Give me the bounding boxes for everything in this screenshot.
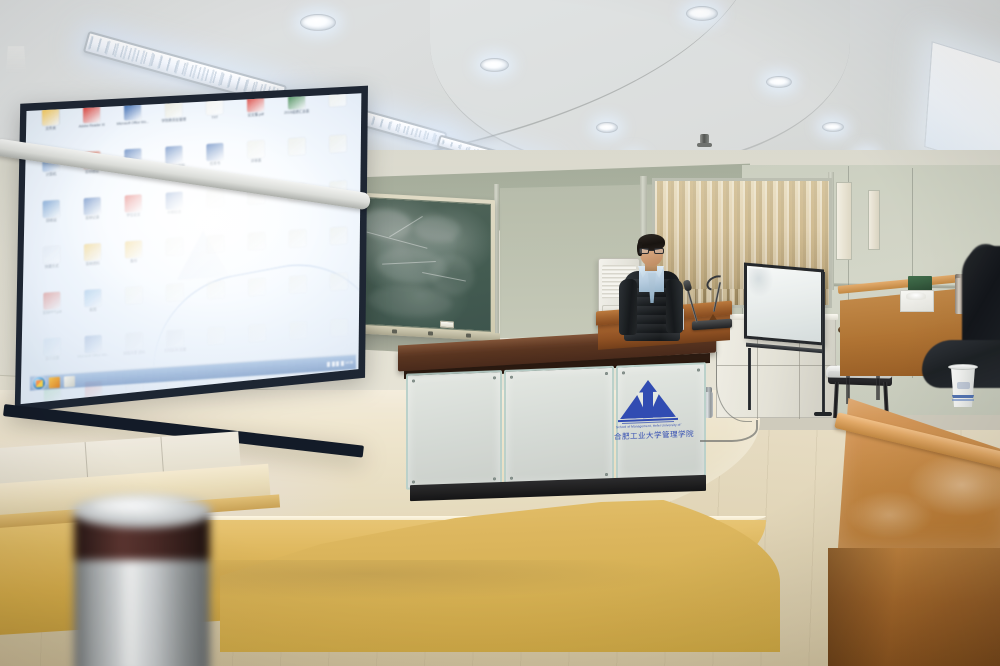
media-player-icon[interactable] <box>49 376 60 388</box>
generic-file-icon[interactable] <box>249 324 266 342</box>
desktop-icon-label: Microsoft Office Wo... <box>73 352 114 359</box>
desktop-icon-label: 任务书 <box>194 160 235 167</box>
desktop-icon-label <box>317 106 358 109</box>
generic-file-icon[interactable] <box>208 327 225 345</box>
desktop-icon-label <box>196 344 237 347</box>
desktop-icon-label <box>236 249 277 252</box>
downlight-icon-3 <box>596 122 618 133</box>
desktop-icon-label <box>154 301 195 304</box>
generic-file-icon[interactable] <box>166 284 183 302</box>
stage-shadow <box>180 560 800 630</box>
desktop-icon[interactable]: 答辩记录 <box>72 194 113 243</box>
whiteboard-on-stand[interactable] <box>744 266 830 418</box>
cup-blue-stripe <box>951 395 975 398</box>
chalkboard-eraser[interactable] <box>440 321 454 329</box>
generic-file-icon[interactable] <box>166 238 183 256</box>
desktop-icon-label: 学位论文 <box>113 212 154 219</box>
generic-file-icon[interactable] <box>331 319 348 337</box>
shortcut-icon[interactable] <box>167 330 184 348</box>
generic-file-icon[interactable] <box>288 137 305 155</box>
desktop-icon-label: 回收站 <box>31 217 72 224</box>
desktop-icon-label <box>319 382 360 385</box>
judges-table-front-shadow <box>828 548 1000 666</box>
desktop-icon-label: Adobe Reader XI <box>71 122 112 129</box>
word-file-icon[interactable] <box>165 146 182 164</box>
projected-desktop[interactable]: 文件夹Adobe Reader XIMicrosoft Office Wo...… <box>26 82 358 394</box>
desktop-icon-label: 答辩记录 <box>72 214 113 221</box>
desktop-icon[interactable] <box>318 224 359 273</box>
word-file-icon[interactable] <box>166 192 183 210</box>
desktop-icon[interactable]: 截图 <box>72 286 113 335</box>
whiteboard-surface[interactable] <box>744 263 824 346</box>
generic-file-icon[interactable] <box>207 281 224 299</box>
tray-icon-2[interactable] <box>331 361 334 366</box>
judges-table[interactable] <box>838 372 1000 666</box>
desktop-icon[interactable] <box>154 281 195 330</box>
desktop-icon-label: 论文集.pdf <box>235 111 276 118</box>
desktop-icon[interactable]: 答辩资料 <box>72 240 113 289</box>
generic-file-icon[interactable] <box>125 286 142 304</box>
downlight-icon-6 <box>822 122 844 132</box>
tray-icon-4[interactable] <box>340 360 343 365</box>
desktop-icon-label <box>195 206 236 209</box>
folder-icon[interactable] <box>84 243 101 261</box>
folder-icon[interactable] <box>125 240 142 258</box>
desktop-icon-label: 截图 <box>72 306 113 313</box>
word-file-icon[interactable] <box>206 143 223 161</box>
desktop-icon[interactable]: 答辩PPT.pdf <box>31 289 72 338</box>
desktop-icon[interactable]: Microsoft Office Wo... <box>112 100 153 149</box>
generic-file-icon[interactable] <box>247 140 264 158</box>
desktop-icon-label <box>276 155 317 158</box>
desktop-icon-label: 中期检查 <box>154 209 195 216</box>
explorer-icon[interactable] <box>64 375 75 387</box>
sprinkler-head-icon <box>700 134 709 147</box>
start-orb-icon[interactable] <box>33 377 45 390</box>
word-file-icon[interactable] <box>84 197 101 215</box>
desktop-icon-label: 网络共享 资料 <box>114 349 155 356</box>
desktop-icon-label <box>195 298 236 301</box>
taskbar-clock: 14:36 <box>345 360 353 365</box>
generic-file-icon[interactable] <box>330 227 347 245</box>
desktop-icon-label <box>195 252 236 255</box>
system-tray[interactable]: 14:36 <box>327 360 353 367</box>
window-pane-right-2 <box>868 190 880 250</box>
thermos-lid-highlight <box>92 500 172 514</box>
desktop-icon[interactable] <box>277 273 318 322</box>
logo-m-stem <box>643 390 653 418</box>
desktop-icon[interactable] <box>195 186 236 235</box>
desktop-icon-label: 2019成绩汇总表 <box>276 109 317 116</box>
generic-file-icon[interactable] <box>329 135 346 153</box>
desktop-icon[interactable] <box>277 227 318 276</box>
presenter-arm-left <box>619 279 637 335</box>
cup-rim <box>948 364 978 370</box>
paper-cup[interactable] <box>948 362 978 410</box>
steel-thermos-foreground <box>66 482 218 666</box>
desktop-icon[interactable] <box>154 235 195 284</box>
logo-text-chinese: 合肥工业大学管理学院 <box>614 429 684 443</box>
desktop-icon[interactable]: 学位论文 <box>113 192 154 241</box>
pdf-document-icon[interactable] <box>43 292 60 310</box>
generic-file-icon[interactable] <box>289 275 306 293</box>
projection-screen[interactable]: 文件夹Adobe Reader XIMicrosoft Office Wo...… <box>0 84 368 414</box>
desktop-icon[interactable]: 回收站 <box>31 197 72 246</box>
cup-reflection <box>4 46 28 82</box>
desktop-icon-label <box>154 255 195 258</box>
folder-shortcut[interactable] <box>42 108 59 126</box>
generic-file-icon[interactable] <box>207 235 224 253</box>
generic-file-icon[interactable] <box>289 229 306 247</box>
monitor-icon[interactable] <box>44 338 61 356</box>
desktop-icon[interactable] <box>276 135 317 184</box>
thermos-specular-highlight <box>118 562 138 666</box>
desktop-icon[interactable]: 快捷方式 <box>31 243 72 292</box>
desktop-icon[interactable] <box>113 283 154 332</box>
desktop-icon[interactable]: 中期检查 <box>154 189 195 238</box>
desktop-icon-label: 备份 <box>113 257 154 264</box>
desktop-icon-label: 答辩资料 <box>72 260 113 267</box>
cup-blue-stripe-2 <box>952 399 974 401</box>
desktop-icon-label <box>277 247 318 250</box>
generic-file-icon[interactable] <box>248 232 265 250</box>
tray-icon-1[interactable] <box>327 361 330 366</box>
tray-icon-3[interactable] <box>336 361 339 366</box>
desktop-icon-label: 评审表 <box>235 157 276 164</box>
desktop-icon[interactable] <box>318 270 359 319</box>
desktop-icon-label <box>236 203 277 206</box>
desktop-icon-label: 答辩PPT.pdf <box>31 309 72 316</box>
desktop-icon-label <box>113 303 154 306</box>
chalkboard <box>347 192 495 336</box>
desktop-icon[interactable] <box>195 232 236 281</box>
desktop-icon-label <box>277 293 318 296</box>
desktop-icon-label: 快捷方式 <box>31 263 72 270</box>
desktop-icon-label: Microsoft Office Wo... <box>112 120 153 127</box>
whiteboard-stand-leg-right <box>822 272 825 414</box>
desktop-icon[interactable]: Adobe Reader XI <box>71 102 112 151</box>
desktop-icon-label <box>318 290 359 293</box>
desktop-icon-label: TXT <box>194 114 235 121</box>
recycle-bin-icon[interactable] <box>43 200 60 218</box>
downlight-icon-2 <box>480 58 509 72</box>
generic-file-icon[interactable] <box>330 273 347 291</box>
desktop-icon[interactable] <box>236 229 277 278</box>
desktop-icon-label <box>318 244 359 247</box>
desktop-icon-label <box>317 152 358 155</box>
desktop-icon-label: 学院教务处管理 <box>153 117 194 124</box>
shortcut-icon[interactable] <box>43 246 60 264</box>
generic-file-icon[interactable] <box>207 189 224 207</box>
desktop-icon[interactable] <box>236 275 277 324</box>
pdf-file-icon[interactable] <box>125 194 142 212</box>
chalkboard-surface <box>351 196 491 332</box>
desktop-icon[interactable]: 备份 <box>113 238 154 287</box>
shortcut-icon[interactable] <box>126 332 143 350</box>
screen-surface[interactable]: 文件夹Adobe Reader XIMicrosoft Office Wo...… <box>0 84 368 414</box>
desktop-icon-label: 文件夹 <box>30 125 71 132</box>
tissue-sheet <box>906 292 926 300</box>
desktop-icon-label <box>237 341 278 344</box>
desktop-icon[interactable]: 学院教务处管理 <box>153 97 194 146</box>
presenter-arm-right <box>666 279 683 333</box>
downlight-icon-5 <box>766 76 792 88</box>
generic-file-icon[interactable] <box>248 278 265 296</box>
desktop-icon-label: 显示设置 <box>32 355 73 362</box>
university-logo: School of Management, Hefei University o… <box>612 377 684 450</box>
lecture-hall-photo: 文件夹Adobe Reader XIMicrosoft Office Wo...… <box>0 0 1000 666</box>
glass-panel-2 <box>504 366 614 486</box>
desktop-icon-label <box>319 336 360 339</box>
desktop-icon-label <box>278 339 319 342</box>
desktop-icon[interactable] <box>317 132 358 181</box>
generic-file-icon[interactable] <box>290 321 307 339</box>
desktop-icon-label: 打印队列 设置 <box>155 347 196 354</box>
image-file-icon[interactable] <box>84 289 101 307</box>
downlight-icon-4 <box>686 6 718 21</box>
downlight-icon-1 <box>300 14 336 31</box>
glass-panel-1 <box>406 370 502 490</box>
word-file-icon[interactable] <box>85 335 102 353</box>
glasses-icon <box>639 248 664 254</box>
desktop-icon-label <box>236 295 277 298</box>
whiteboard-glare <box>749 268 773 298</box>
cup-print <box>957 382 970 389</box>
window-pane-right-1 <box>836 182 852 260</box>
desktop-icon[interactable] <box>195 278 236 327</box>
desktop-icon-label: 计算机 <box>30 171 71 178</box>
presenter <box>618 233 684 341</box>
